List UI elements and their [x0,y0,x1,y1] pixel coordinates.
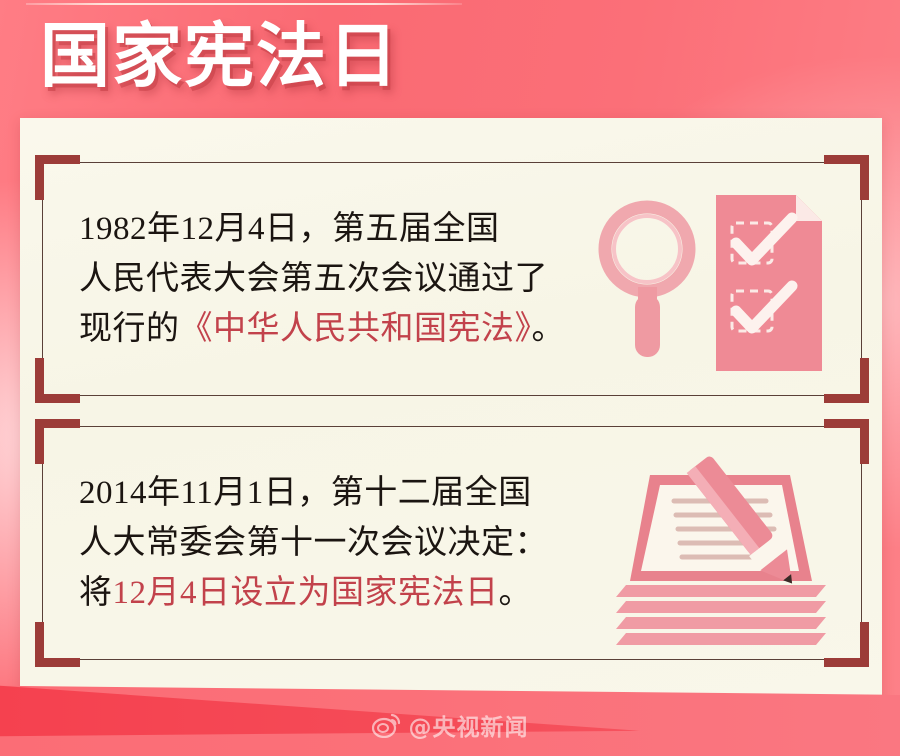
corner-bracket-bottom-left [35,358,80,403]
fact-card-2014-text: 2014年11月1日，第十二届全国 人大常委会第十一次会议决定： 将12月4日设… [79,468,548,618]
content-panel: 1982年12月4日，第五届全国 人民代表大会第五次会议通过了 现行的《中华人民… [20,118,882,723]
fact-card-1982-line-3: 现行的《中华人民共和国宪法》。 [79,304,565,354]
fact-card-2014-line-2: 人大常委会第十一次会议决定： [79,518,548,568]
corner-bracket-top-left [35,155,80,200]
fact-card-2014-line-3-prefix: 将 [79,575,113,611]
fact-card-2014-body: 2014年11月1日，第十二届全国 人大常委会第十一次会议决定： 将12月4日设… [79,427,861,659]
constitution-day-highlight: 12月4日设立为国家宪法日 [113,575,499,611]
poster-root: 国家宪法日 1982年12月4日，第五届全国 人民代表大会第五次会议通过了 现行… [0,0,900,756]
fact-card-1982: 1982年12月4日，第五届全国 人民代表大会第五次会议通过了 现行的《中华人民… [42,162,862,396]
corner-bracket-bottom-left [35,622,80,667]
watermark-handle: @央视新闻 [409,708,529,742]
fact-card-2014-line-3: 将12月4日设立为国家宪法日。 [79,568,548,618]
fact-card-1982-line-1: 1982年12月4日，第五届全国 [79,204,565,254]
constitution-title-highlight: 《中华人民共和国宪法》 [180,311,532,347]
weibo-logo-icon [372,712,402,738]
fact-card-1982-text: 1982年12月4日，第五届全国 人民代表大会第五次会议通过了 现行的《中华人民… [79,204,565,354]
fact-card-1982-line-3-suffix: 。 [532,311,566,347]
poster-title-container: 国家宪法日 [40,8,400,104]
fact-card-2014: 2014年11月1日，第十二届全国 人大常委会第十一次会议决定： 将12月4日设… [42,426,862,660]
fact-card-1982-body: 1982年12月4日，第五届全国 人民代表大会第五次会议通过了 现行的《中华人民… [79,163,861,395]
fact-card-1982-line-2: 人民代表大会第五次会议通过了 [79,254,565,304]
fact-card-1982-line-3-prefix: 现行的 [79,311,180,347]
fact-card-2014-line-3-suffix: 。 [499,575,533,611]
top-hairline-divider [26,3,462,5]
corner-bracket-top-left [35,419,80,464]
page-title: 国家宪法日 [40,21,400,91]
fact-card-2014-line-1: 2014年11月1日，第十二届全国 [79,468,548,518]
footer-watermark: @央视新闻 [0,708,900,742]
